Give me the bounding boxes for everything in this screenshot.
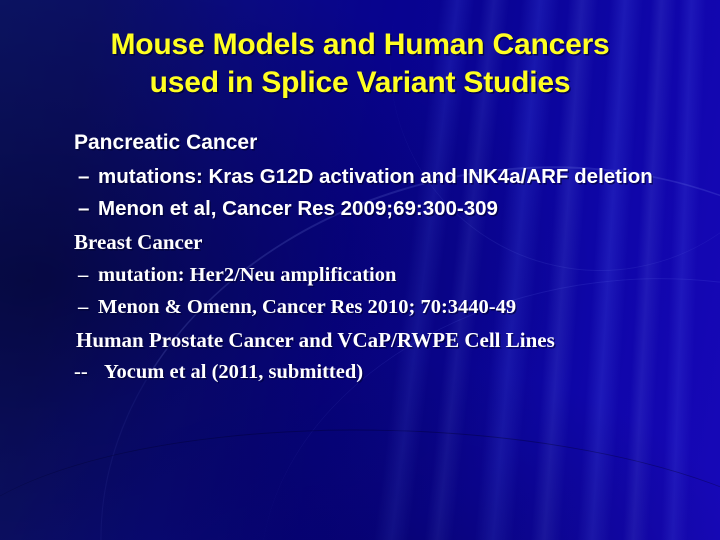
double-dash-bullet-icon: -- <box>74 357 104 387</box>
slide-title-line-1: Mouse Models and Human Cancers <box>0 26 720 64</box>
slide-title-line-2: used in Splice Variant Studies <box>0 64 720 102</box>
en-dash-bullet-icon: – <box>78 195 98 222</box>
section-heading-breast-cancer: Breast Cancer <box>74 228 720 257</box>
section-heading-pancreatic-cancer: Pancreatic Cancer <box>74 128 720 157</box>
slide-content: Mouse Models and Human Cancers used in S… <box>0 0 720 540</box>
bullet-item-text: Menon et al, Cancer Res 2009;69:300-309 <box>98 195 662 222</box>
bullet-item: – mutations: Kras G12D activation and IN… <box>78 163 662 190</box>
section-pancreatic-cancer: Pancreatic Cancer – mutations: Kras G12D… <box>0 128 720 222</box>
bullet-item-text: mutation: Her2/Neu amplification <box>98 260 678 290</box>
presentation-slide: Mouse Models and Human Cancers used in S… <box>0 0 720 540</box>
en-dash-bullet-icon: – <box>78 292 98 322</box>
section-breast-cancer: Breast Cancer – mutation: Her2/Neu ampli… <box>0 228 720 322</box>
bullet-item-text: mutations: Kras G12D activation and INK4… <box>98 163 662 190</box>
section-human-prostate-cancer: Human Prostate Cancer and VCaP/RWPE Cell… <box>0 325 720 387</box>
section-heading-human-prostate-cancer: Human Prostate Cancer and VCaP/RWPE Cell… <box>76 325 720 355</box>
bullet-item: – mutation: Her2/Neu amplification <box>78 260 678 290</box>
slide-body: Pancreatic Cancer – mutations: Kras G12D… <box>0 128 720 387</box>
bullet-item: -- Yocum et al (2011, submitted) <box>74 357 720 387</box>
bullet-item: – Menon et al, Cancer Res 2009;69:300-30… <box>78 195 662 222</box>
bullet-item: – Menon & Omenn, Cancer Res 2010; 70:344… <box>78 292 678 322</box>
bullet-item-text: Yocum et al (2011, submitted) <box>104 357 720 387</box>
slide-title: Mouse Models and Human Cancers used in S… <box>0 26 720 102</box>
en-dash-bullet-icon: – <box>78 260 98 290</box>
en-dash-bullet-icon: – <box>78 163 98 190</box>
bullet-item-text: Menon & Omenn, Cancer Res 2010; 70:3440-… <box>98 292 678 322</box>
